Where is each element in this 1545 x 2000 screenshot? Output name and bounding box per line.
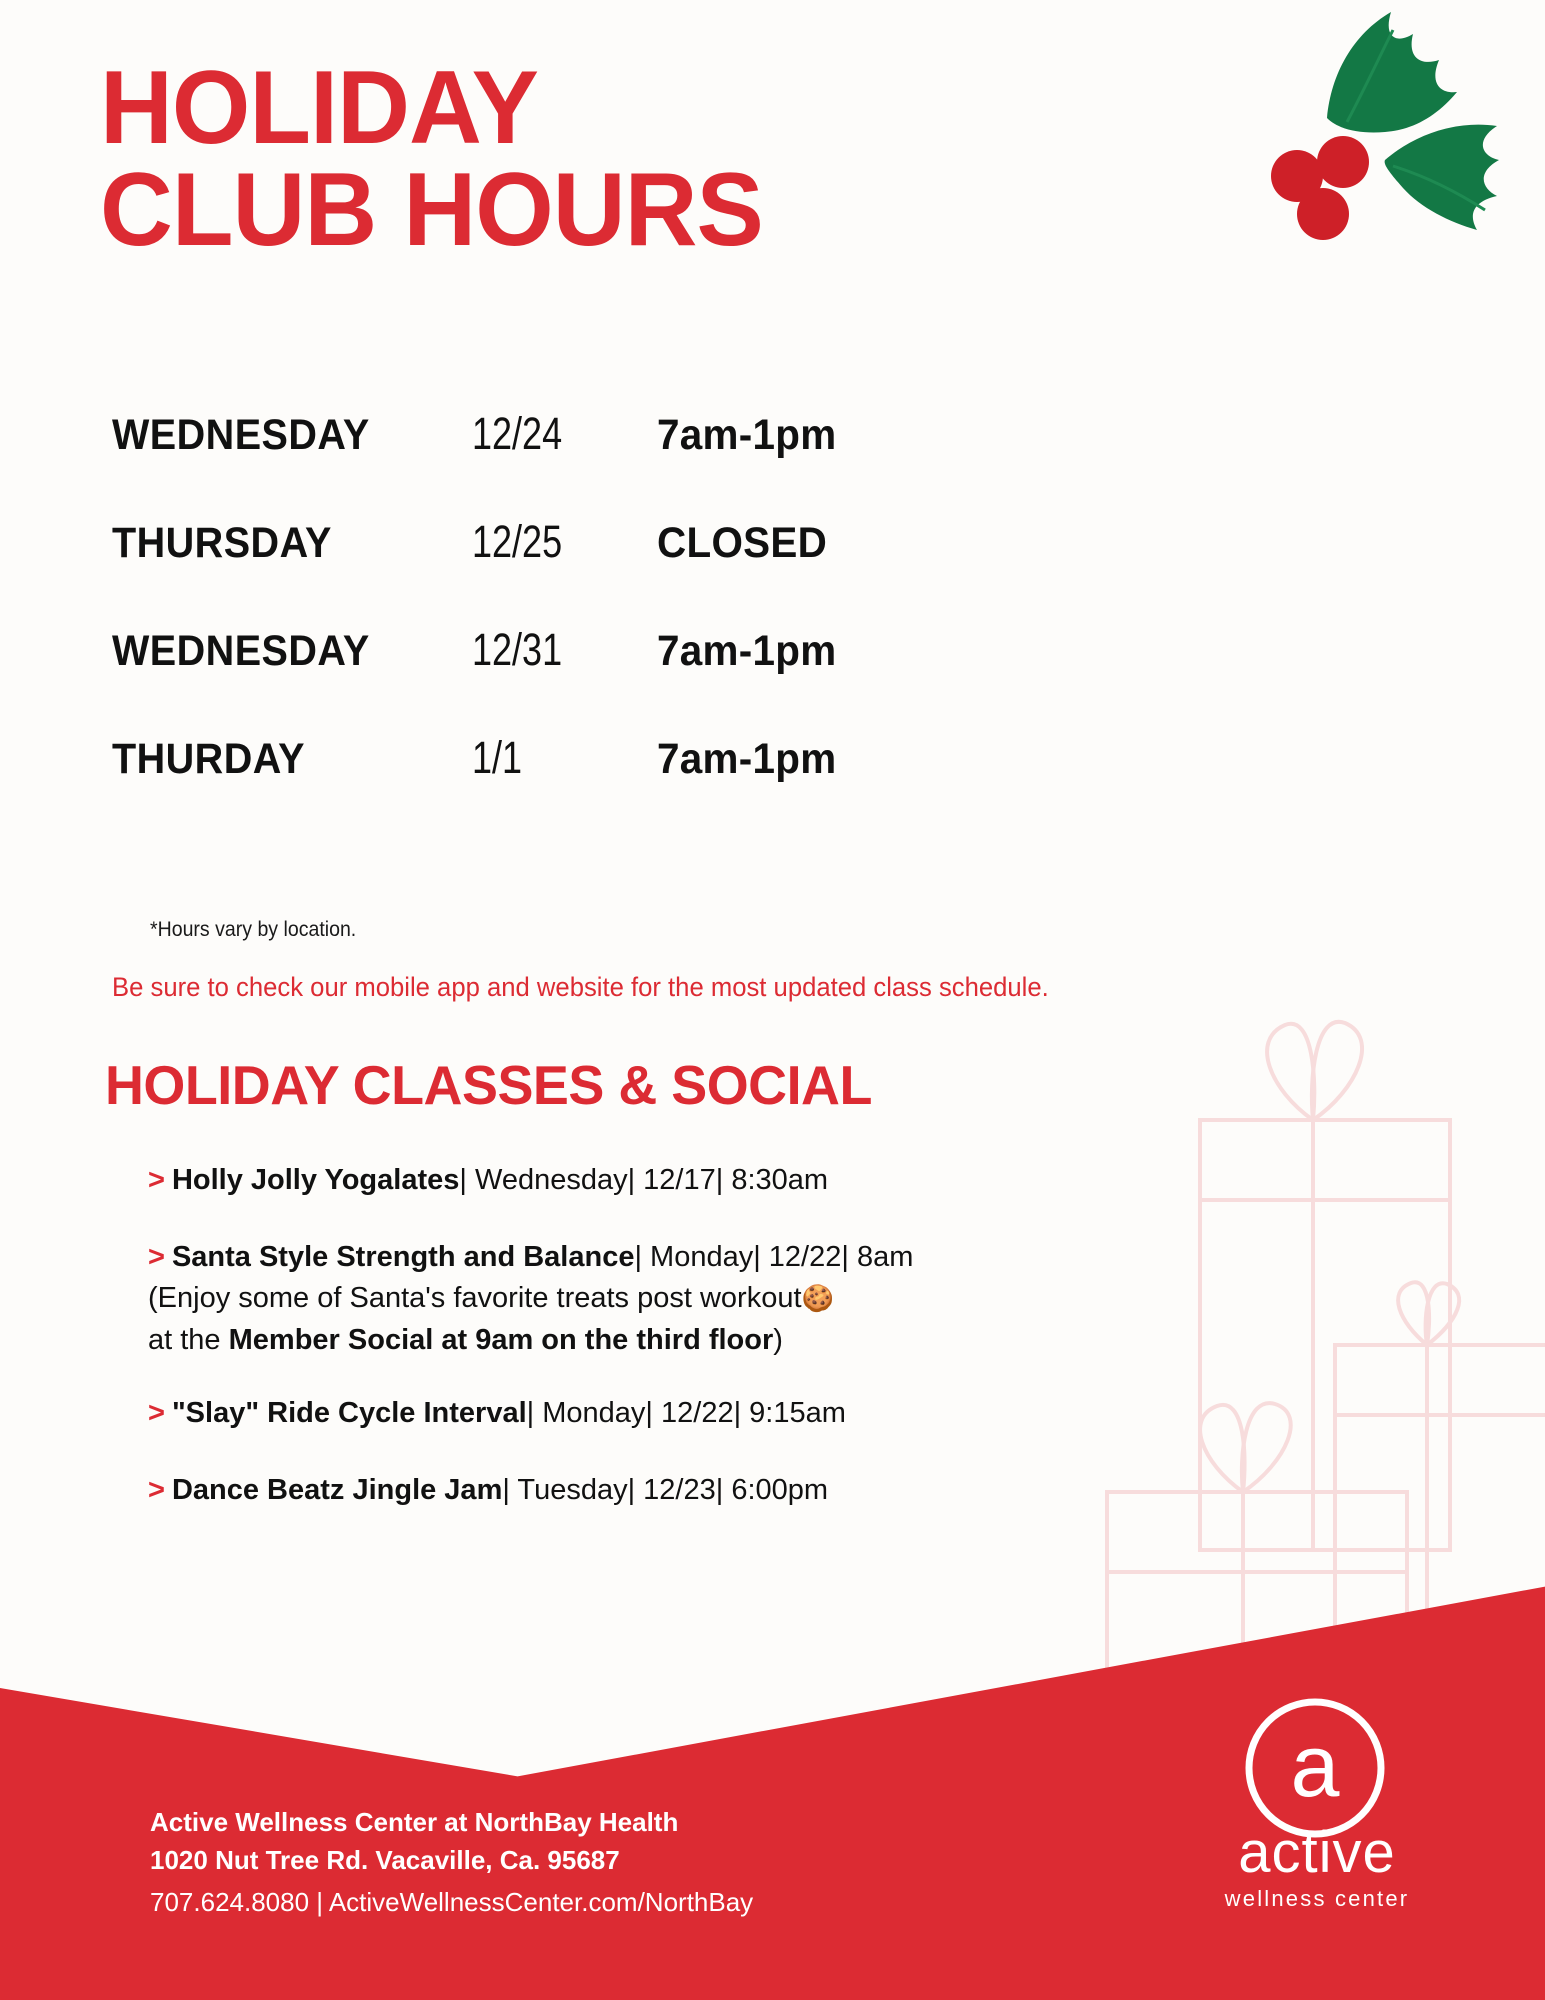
bullet-arrow-icon: >	[148, 1241, 165, 1273]
cookie-icon: 🍪	[802, 1283, 834, 1313]
table-row: WEDNESDAY 12/31 7am-1pm	[112, 624, 1012, 732]
bullet-arrow-icon: >	[148, 1397, 165, 1429]
schedule-day: WEDNESDAY	[112, 411, 443, 460]
table-row: WEDNESDAY 12/24 7am-1pm	[112, 408, 1012, 516]
footer-separator: |	[309, 1887, 329, 1917]
member-social-detail: Member Social at 9am on the third floor	[229, 1324, 774, 1356]
class-name: Dance Beatz Jingle Jam	[172, 1474, 502, 1506]
schedule-date: 12/25	[472, 516, 620, 568]
footer-org: Active Wellness Center at NorthBay Healt…	[150, 1804, 753, 1842]
schedule-table: WEDNESDAY 12/24 7am-1pm THURSDAY 12/25 C…	[112, 408, 1012, 840]
schedule-hours: 7am-1pm	[657, 411, 836, 460]
class-note-mid: at the	[148, 1324, 229, 1356]
schedule-hours: CLOSED	[657, 519, 827, 568]
classes-list: >Holly Jolly Yogalates| Wednesday| 12/17…	[148, 1160, 1208, 1547]
bullet-arrow-icon: >	[148, 1474, 165, 1506]
page-title: HOLIDAY CLUB HOURS	[100, 58, 763, 262]
active-logo-text: active wellness center	[1177, 1824, 1457, 1912]
svg-text:a: a	[1291, 1716, 1340, 1815]
footer-phone[interactable]: 707.624.8080	[150, 1887, 309, 1917]
class-note-lead: (Enjoy some of Santa's favorite treats p…	[148, 1282, 802, 1314]
table-row: THURDAY 1/1 7am-1pm	[112, 732, 1012, 840]
hours-footnote: *Hours vary by location.	[150, 918, 356, 942]
logo-wordmark: active	[1177, 1824, 1457, 1882]
bullet-arrow-icon: >	[148, 1164, 165, 1196]
schedule-hours: 7am-1pm	[657, 735, 836, 784]
class-details: | Tuesday| 12/23| 6:00pm	[502, 1474, 828, 1506]
flyer-page: HOLIDAY CLUB HOURS WEDNESDAY 12/24 7am-1…	[0, 0, 1545, 2000]
list-item: >Holly Jolly Yogalates| Wednesday| 12/17…	[148, 1160, 1208, 1201]
schedule-day: THURSDAY	[112, 519, 443, 568]
class-name: Holly Jolly Yogalates	[172, 1164, 459, 1196]
holly-icon	[1235, 0, 1535, 300]
footer-address: 1020 Nut Tree Rd. Vacaville, Ca. 95687	[150, 1842, 753, 1880]
list-item: >Dance Beatz Jingle Jam| Tuesday| 12/23|…	[148, 1470, 1208, 1511]
footer-website[interactable]: ActiveWellnessCenter.com/NorthBay	[329, 1887, 753, 1917]
classes-heading: HOLIDAY CLASSES & SOCIAL	[105, 1053, 872, 1117]
list-item: >Santa Style Strength and Balance| Monda…	[148, 1237, 1208, 1361]
schedule-day: WEDNESDAY	[112, 627, 443, 676]
class-note-tail: )	[773, 1324, 783, 1356]
schedule-date: 12/31	[472, 624, 620, 676]
class-name: "Slay" Ride Cycle Interval	[172, 1397, 527, 1429]
schedule-day: THURDAY	[112, 735, 443, 784]
footer-contact: Active Wellness Center at NorthBay Healt…	[150, 1804, 753, 1922]
footer-contact-line: 707.624.8080 | ActiveWellnessCenter.com/…	[150, 1882, 753, 1922]
schedule-date: 12/24	[472, 408, 620, 460]
schedule-date: 1/1	[472, 732, 620, 784]
class-details: | Monday| 12/22| 9:15am	[527, 1397, 846, 1429]
app-notice: Be sure to check our mobile app and webs…	[112, 972, 1049, 1003]
class-details: | Wednesday| 12/17| 8:30am	[459, 1164, 828, 1196]
table-row: THURSDAY 12/25 CLOSED	[112, 516, 1012, 624]
logo-tagline: wellness center	[1177, 1886, 1457, 1912]
class-name: Santa Style Strength and Balance	[172, 1241, 635, 1273]
schedule-hours: 7am-1pm	[657, 627, 836, 676]
list-item: >"Slay" Ride Cycle Interval| Monday| 12/…	[148, 1393, 1208, 1434]
class-details: | Monday| 12/22| 8am	[634, 1241, 913, 1273]
